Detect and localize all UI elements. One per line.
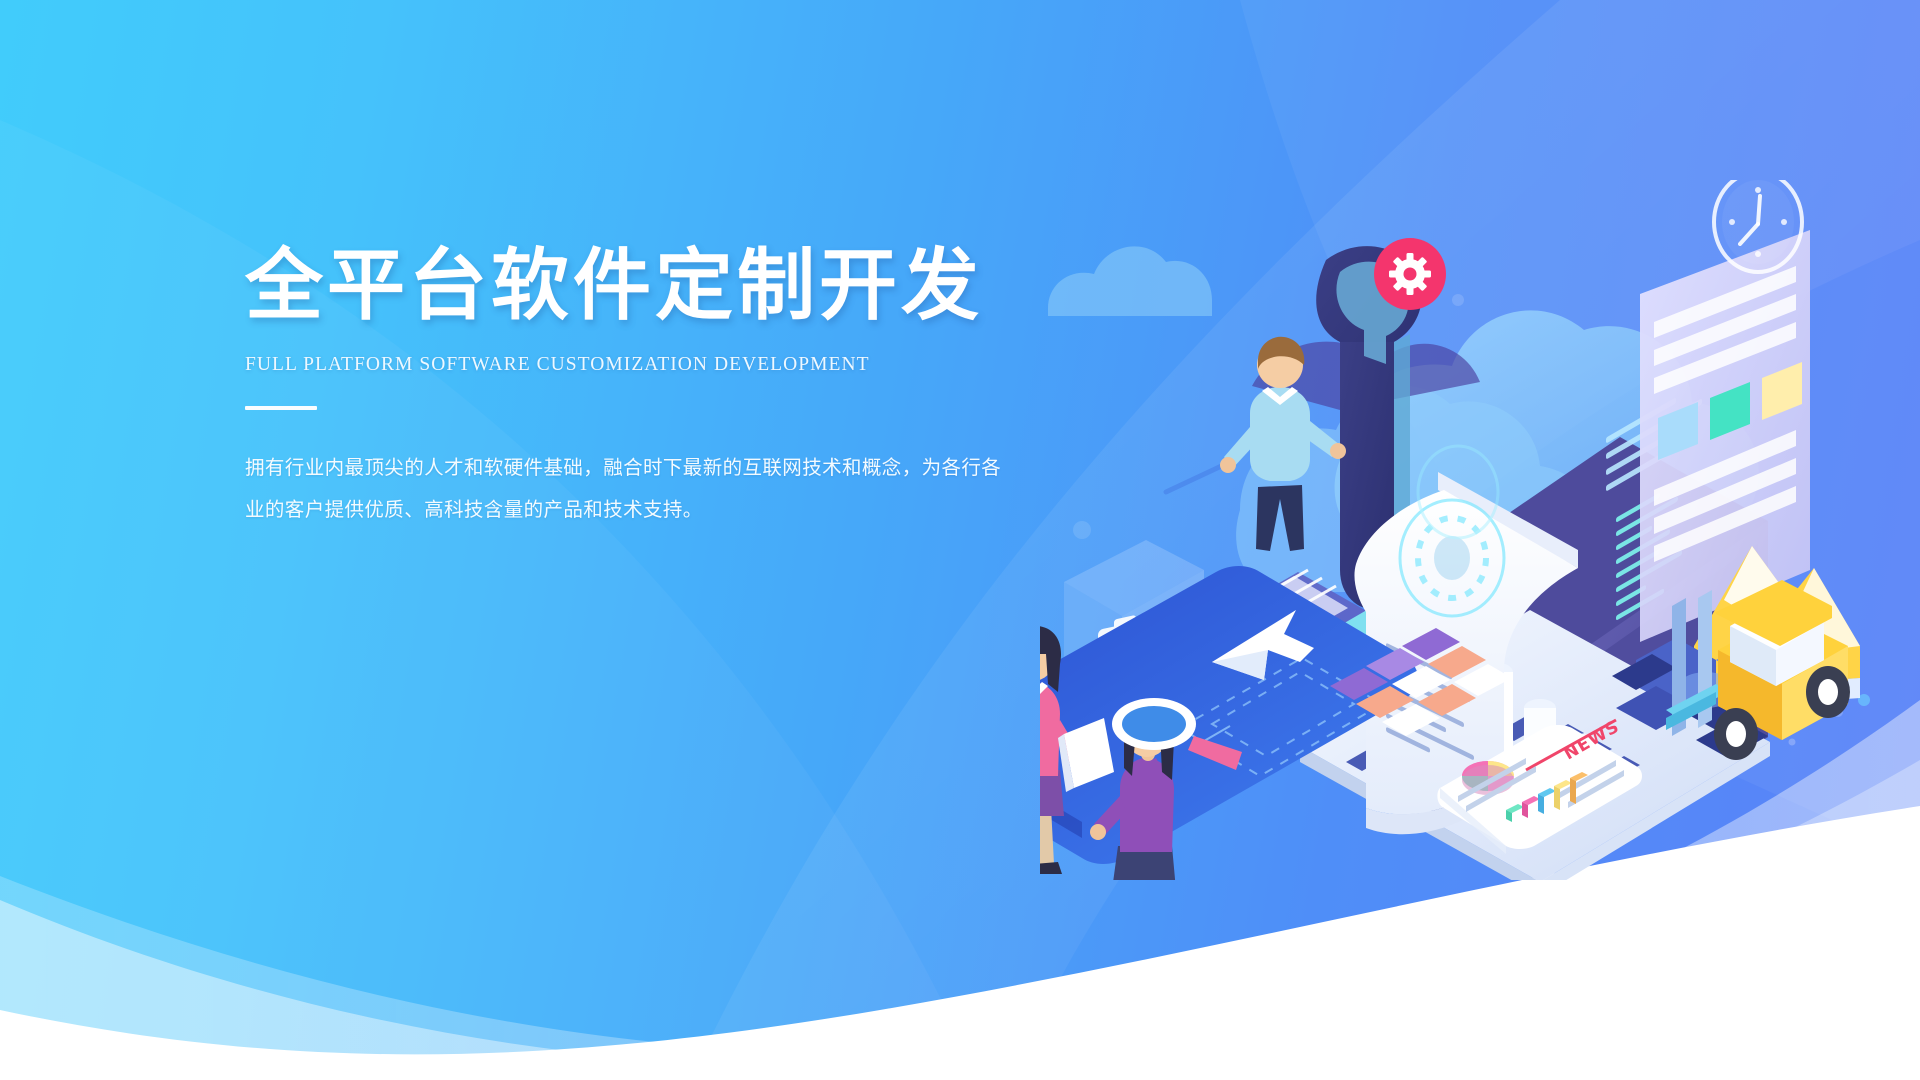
description-paragraph: 拥有行业内最顶尖的人才和软硬件基础，融合时下最新的互联网技术和概念，为各行各业的… <box>245 447 1017 531</box>
document-panel <box>1640 230 1810 642</box>
illustration-svg: NEWS <box>1040 180 1920 880</box>
page-subtitle: FULL PLATFORM SOFTWARE CUSTOMIZATION DEV… <box>245 354 1025 376</box>
hero-banner: 全平台软件定制开发 FULL PLATFORM SOFTWARE CUSTOMI… <box>0 0 1920 1080</box>
hero-copy-block: 全平台软件定制开发 FULL PLATFORM SOFTWARE CUSTOMI… <box>245 240 1025 531</box>
clock-icon <box>1714 180 1802 272</box>
title-divider <box>245 406 317 410</box>
hero-illustration: NEWS <box>1040 180 1920 880</box>
cloud-small-icon <box>1048 246 1212 316</box>
page-title: 全平台软件定制开发 <box>245 240 1025 332</box>
